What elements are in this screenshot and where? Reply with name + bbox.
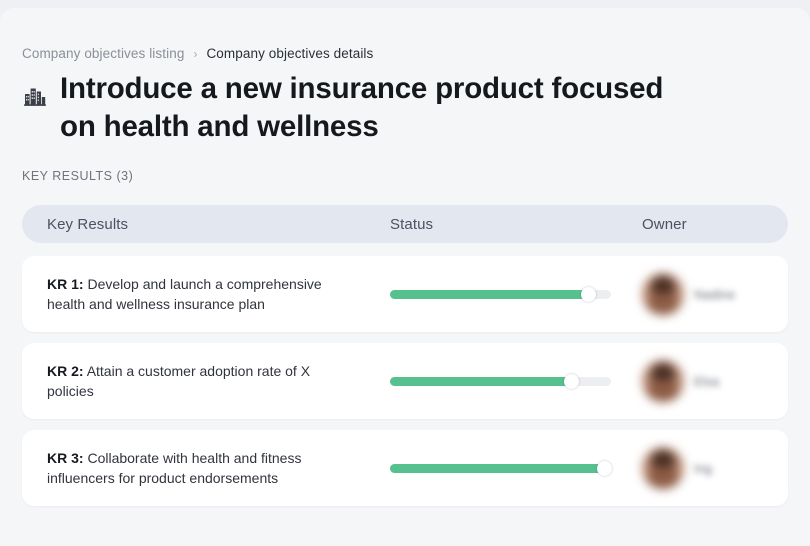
breadcrumb-link-objectives-listing[interactable]: Company objectives listing	[22, 46, 184, 61]
key-result-number: KR 2:	[47, 363, 84, 379]
page-title: Introduce a new insurance product focuse…	[60, 70, 700, 146]
table-row[interactable]: KR 2: Attain a customer adoption rate of…	[22, 343, 788, 419]
owner-name: Elsa	[694, 374, 719, 389]
progress-handle[interactable]	[597, 461, 612, 476]
table-row[interactable]: KR 1: Develop and launch a comprehensive…	[22, 256, 788, 332]
owner-cell: Ing	[642, 447, 788, 489]
progress-slider[interactable]	[390, 377, 611, 386]
status-cell	[390, 290, 642, 299]
progress-fill	[390, 464, 604, 473]
table-row[interactable]: KR 3: Collaborate with health and fitnes…	[22, 430, 788, 506]
column-header-key-results: Key Results	[22, 216, 390, 233]
avatar	[642, 447, 684, 489]
key-result-number: KR 3:	[47, 450, 84, 466]
key-result-cell: KR 3: Collaborate with health and fitnes…	[22, 448, 390, 488]
key-results-section-label: KEY RESULTS (3)	[22, 169, 133, 183]
chevron-right-icon: ›	[193, 48, 197, 60]
city-buildings-icon	[22, 82, 48, 108]
status-cell	[390, 464, 642, 473]
key-result-description: Collaborate with health and fitness infl…	[47, 450, 301, 486]
progress-slider[interactable]	[390, 464, 611, 473]
key-result-cell: KR 1: Develop and launch a comprehensive…	[22, 274, 390, 314]
progress-handle[interactable]	[564, 374, 579, 389]
owner-cell: Nadine	[642, 273, 788, 315]
owner-name: Ing	[694, 461, 712, 476]
key-results-table: Key Results Status Owner KR 1: Develop a…	[22, 205, 788, 517]
page-surface: Company objectives listing › Company obj…	[0, 8, 810, 546]
owner-name: Nadine	[694, 287, 735, 302]
avatar	[642, 273, 684, 315]
progress-handle[interactable]	[581, 287, 596, 302]
progress-fill	[390, 377, 571, 386]
breadcrumb: Company objectives listing › Company obj…	[22, 46, 373, 61]
key-result-description: Attain a customer adoption rate of X pol…	[47, 363, 310, 399]
owner-cell: Elsa	[642, 360, 788, 402]
page-title-row: Introduce a new insurance product focuse…	[22, 70, 722, 146]
key-result-cell: KR 2: Attain a customer adoption rate of…	[22, 361, 390, 401]
table-header-row: Key Results Status Owner	[22, 205, 788, 243]
progress-fill	[390, 290, 589, 299]
key-result-description: Develop and launch a comprehensive healt…	[47, 276, 322, 312]
progress-slider[interactable]	[390, 290, 611, 299]
breadcrumb-current-objectives-details: Company objectives details	[206, 46, 373, 61]
column-header-owner: Owner	[642, 216, 788, 233]
status-cell	[390, 377, 642, 386]
avatar	[642, 360, 684, 402]
key-result-number: KR 1:	[47, 276, 84, 292]
column-header-status: Status	[390, 216, 642, 233]
